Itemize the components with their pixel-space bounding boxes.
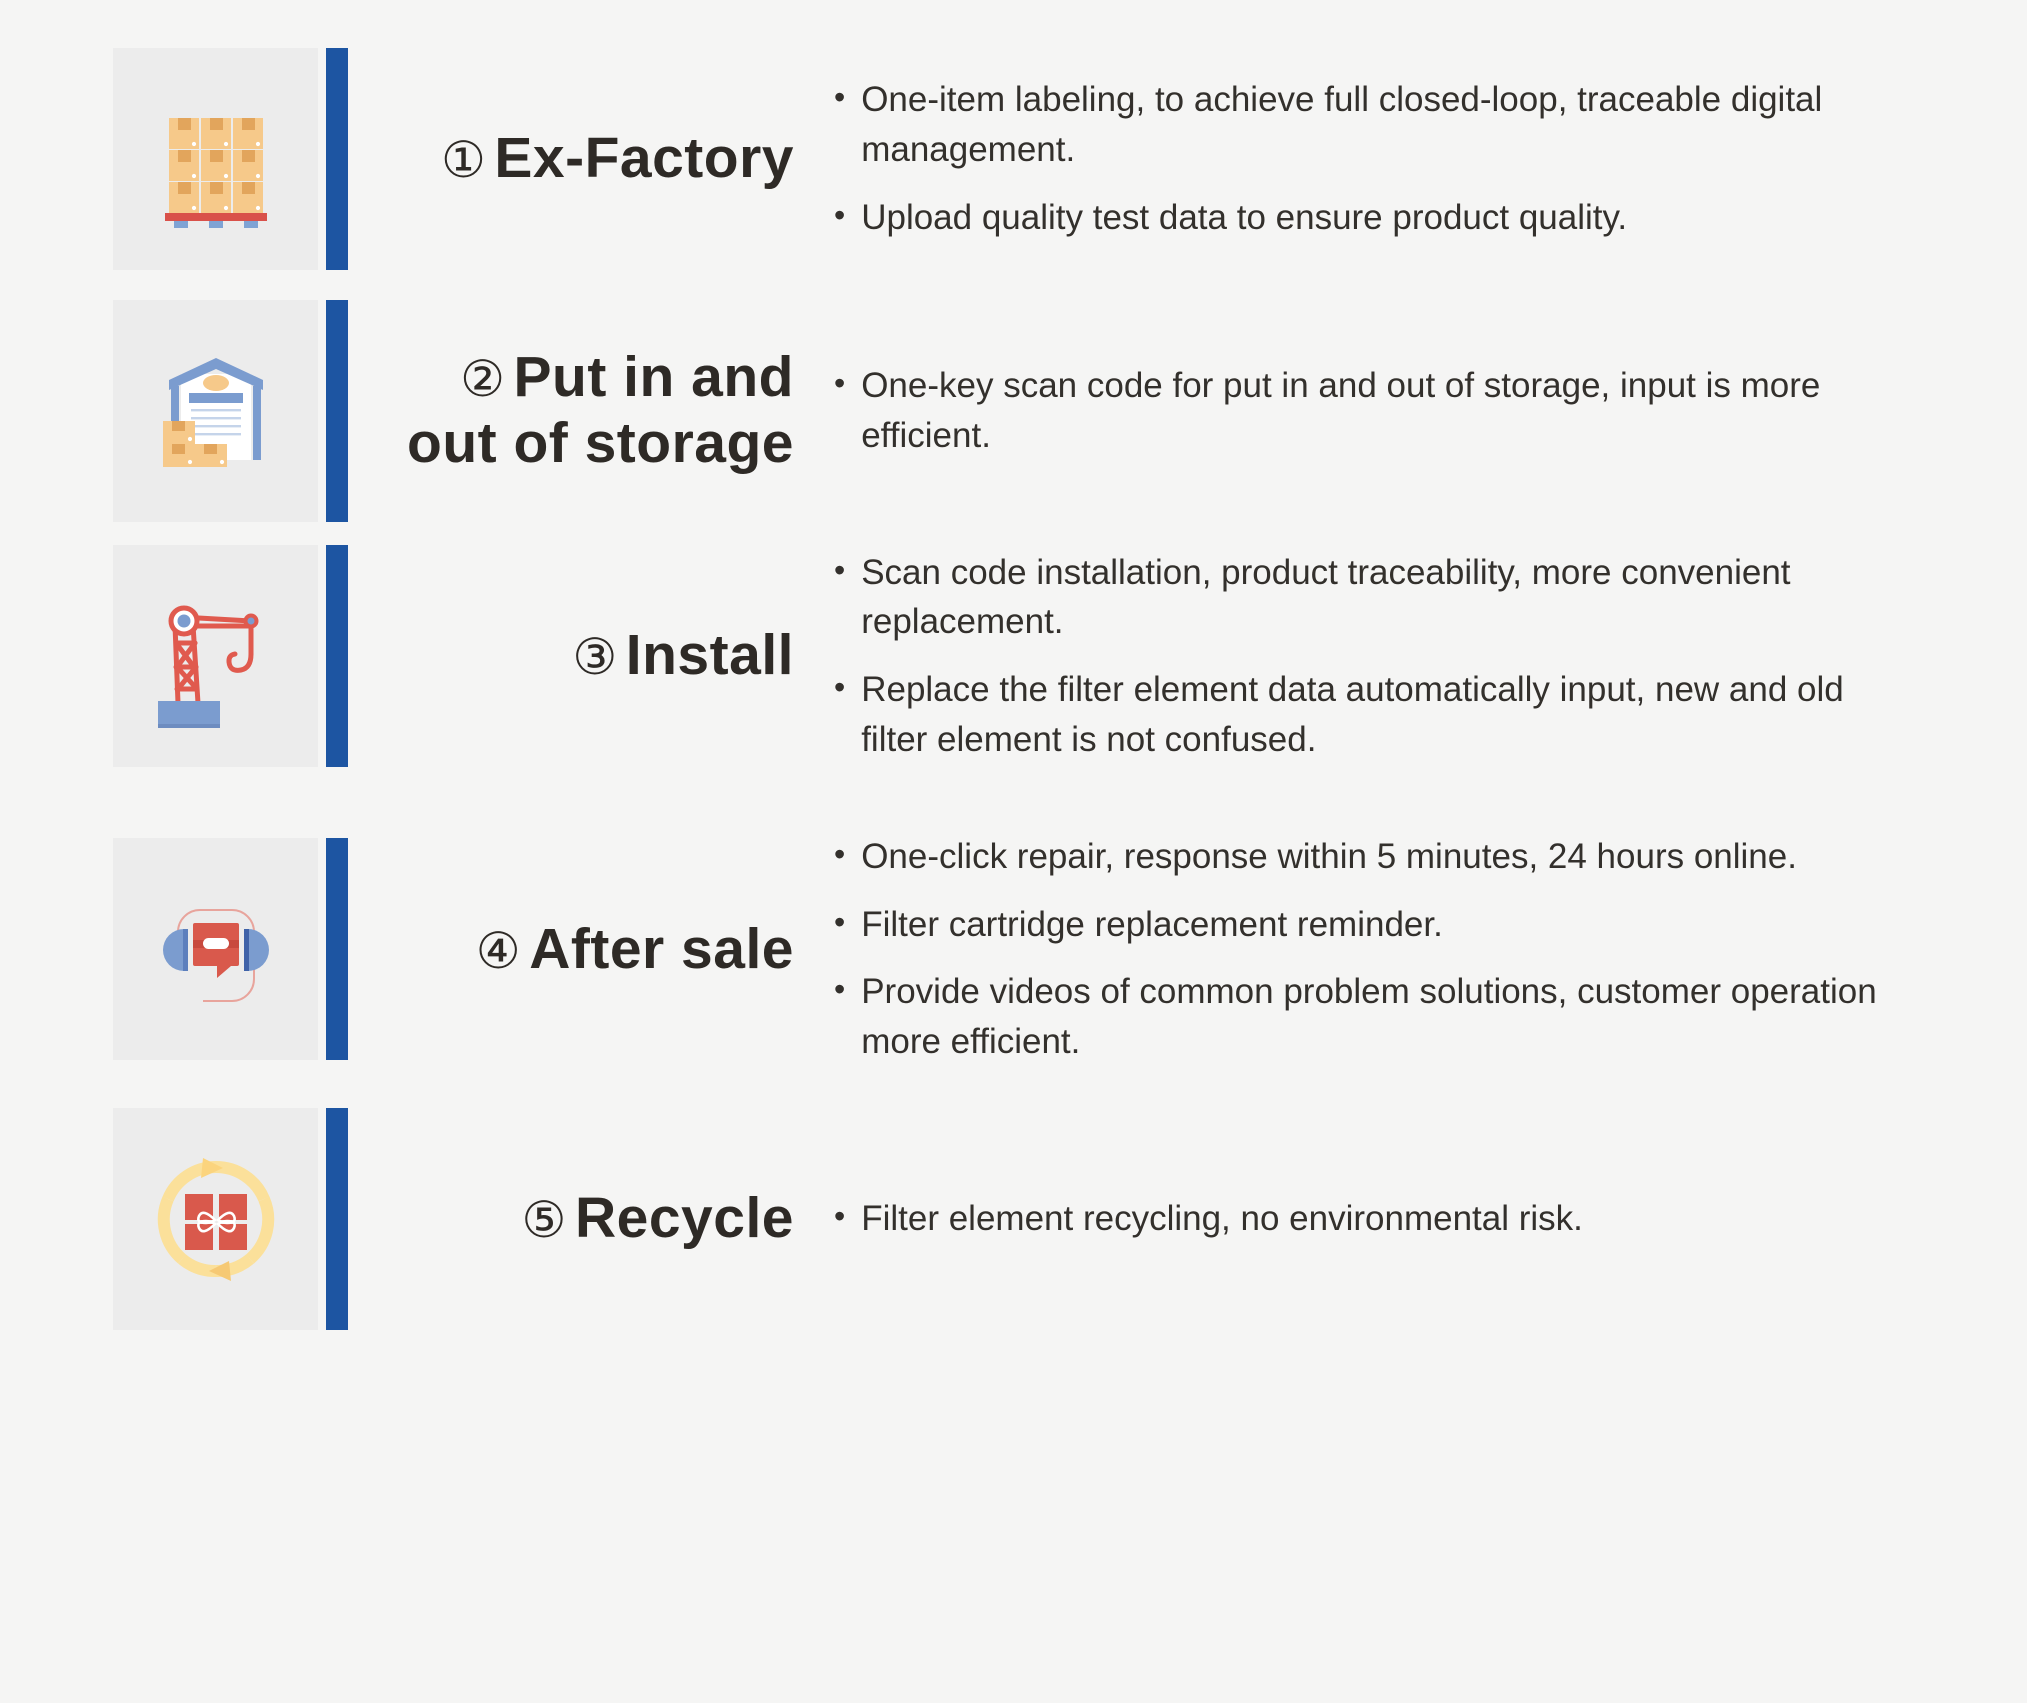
- bullet-text: One-click repair, response within 5 minu…: [861, 832, 1894, 882]
- step-title-text-1: Ex-Factory: [494, 126, 794, 190]
- bullet-marker-icon: •: [834, 900, 845, 945]
- step-title-2-line2: out of storage: [407, 411, 794, 477]
- step-heading-2: ②Put in and out of storage: [368, 345, 808, 476]
- step-heading-1: ①Ex-Factory: [368, 126, 808, 192]
- bullet-text: Provide videos of common problem solutio…: [861, 967, 1894, 1066]
- bullet-item: • One-click repair, response within 5 mi…: [834, 832, 1894, 882]
- accent-bar-4: [326, 838, 348, 1060]
- bullet-marker-icon: •: [834, 665, 845, 710]
- bullet-marker-icon: •: [834, 361, 845, 406]
- bullet-text: Replace the filter element data automati…: [861, 665, 1894, 764]
- step-bullets-4: • One-click repair, response within 5 mi…: [834, 832, 2027, 1067]
- bullet-text: Upload quality test data to ensure produ…: [861, 193, 1894, 243]
- bullet-marker-icon: •: [834, 1194, 845, 1239]
- step-heading-4: ④After sale: [368, 917, 808, 983]
- bullet-text: One-item labeling, to achieve full close…: [861, 75, 1894, 174]
- icon-block-2: [113, 300, 348, 522]
- accent-bar-2: [326, 300, 348, 522]
- icon-block-3: [113, 545, 348, 767]
- step-number-5: ⑤: [522, 1192, 567, 1248]
- accent-bar-1: [326, 48, 348, 270]
- step-number-4: ④: [476, 923, 521, 979]
- bullet-item: • Provide videos of common problem solut…: [834, 967, 1894, 1066]
- bullet-item: • One-item labeling, to achieve full clo…: [834, 75, 1894, 174]
- bullet-marker-icon: •: [834, 832, 845, 877]
- bullet-marker-icon: •: [834, 75, 845, 120]
- step-row-recycle: ⑤Recycle • Filter element recycling, no …: [0, 1108, 2027, 1344]
- step-title-3: ③Install: [572, 623, 794, 689]
- icon-block-1: [113, 48, 348, 270]
- step-row-ex-factory: ①Ex-Factory • One-item labeling, to achi…: [0, 48, 2027, 284]
- step-bullets-3: • Scan code installation, product tracea…: [834, 548, 2027, 765]
- step-bullets-2: • One-key scan code for put in and out o…: [834, 361, 2027, 460]
- accent-bar-3: [326, 545, 348, 767]
- step-number-1: ①: [441, 132, 486, 188]
- warehouse-storage-icon: [141, 336, 291, 486]
- crane-icon: [141, 581, 291, 731]
- step-title-2: ②Put in and: [460, 345, 794, 411]
- bullet-text: Filter element recycling, no environment…: [861, 1194, 1894, 1244]
- icon-tile-5: [113, 1108, 318, 1330]
- accent-bar-5: [326, 1108, 348, 1330]
- icon-tile-3: [113, 545, 318, 767]
- step-title-1: ①Ex-Factory: [441, 126, 794, 192]
- step-row-storage: ②Put in and out of storage • One-key sca…: [0, 300, 2027, 536]
- step-row-install: ③Install • Scan code installation, produ…: [0, 545, 2027, 781]
- step-title-text-5: Recycle: [575, 1186, 794, 1250]
- bullet-text: Scan code installation, product traceabi…: [861, 548, 1894, 647]
- step-number-3: ③: [572, 629, 617, 685]
- step-title-text-4: After sale: [529, 917, 794, 981]
- step-number-2: ②: [460, 351, 505, 407]
- step-title-text-2: Put in and: [514, 345, 794, 409]
- recycle-gift-icon: [141, 1144, 291, 1294]
- bullet-item: • Filter cartridge replacement reminder.: [834, 900, 1894, 950]
- step-bullets-1: • One-item labeling, to achieve full clo…: [834, 75, 2027, 242]
- step-heading-3: ③Install: [368, 623, 808, 689]
- bullet-marker-icon: •: [834, 193, 845, 238]
- bullet-marker-icon: •: [834, 548, 845, 593]
- bullet-item: • Upload quality test data to ensure pro…: [834, 193, 1894, 243]
- bullet-item: • Replace the filter element data automa…: [834, 665, 1894, 764]
- icon-block-4: [113, 838, 348, 1060]
- step-title-5: ⑤Recycle: [522, 1186, 794, 1252]
- pallet-boxes-icon: [141, 84, 291, 234]
- step-title-4: ④After sale: [476, 917, 794, 983]
- icon-tile-1: [113, 48, 318, 270]
- bullet-text: Filter cartridge replacement reminder.: [861, 900, 1894, 950]
- step-heading-5: ⑤Recycle: [368, 1186, 808, 1252]
- icon-block-5: [113, 1108, 348, 1330]
- bullet-item: • One-key scan code for put in and out o…: [834, 361, 1894, 460]
- bullet-item: • Filter element recycling, no environme…: [834, 1194, 1894, 1244]
- step-row-after-sale: ④After sale • One-click repair, response…: [0, 832, 2027, 1068]
- infographic-canvas: ①Ex-Factory • One-item labeling, to achi…: [0, 0, 2027, 1703]
- bullet-text: One-key scan code for put in and out of …: [861, 361, 1894, 460]
- bullet-item: • Scan code installation, product tracea…: [834, 548, 1894, 647]
- headset-support-icon: [141, 874, 291, 1024]
- step-bullets-5: • Filter element recycling, no environme…: [834, 1194, 2027, 1244]
- icon-tile-4: [113, 838, 318, 1060]
- step-title-text-3: Install: [626, 623, 794, 687]
- bullet-marker-icon: •: [834, 967, 845, 1012]
- icon-tile-2: [113, 300, 318, 522]
